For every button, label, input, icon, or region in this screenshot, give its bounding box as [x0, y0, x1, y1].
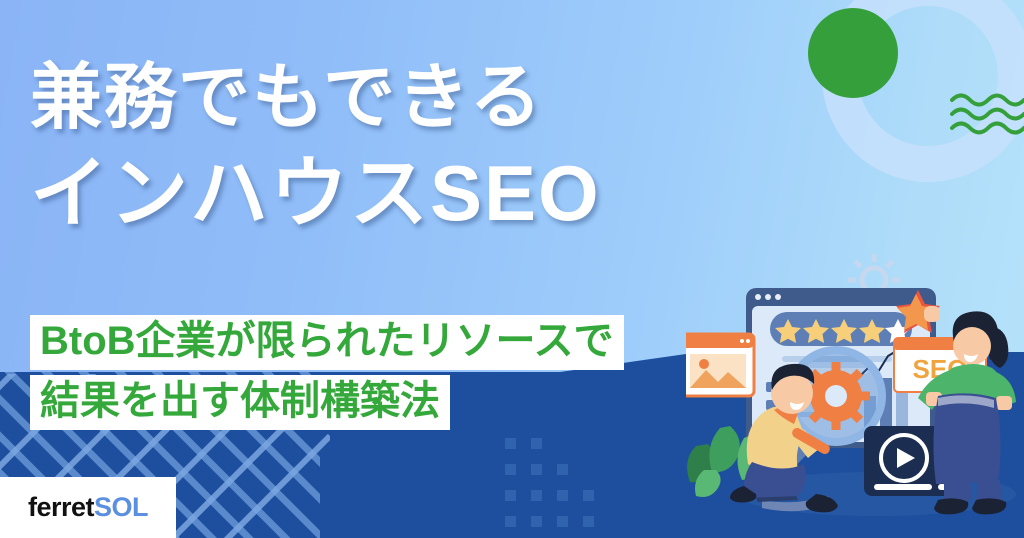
logo-primary-text: ferret [28, 492, 94, 522]
subtitle-line-1: BtoB企業が限られたリソースで [30, 315, 624, 370]
seo-seminar-banner: 兼務でもできる インハウスSEO BtoB企業が限られたリソースで 結果を出す体… [0, 0, 1024, 538]
dot-grid-decoration [505, 412, 715, 538]
image-card [686, 334, 754, 396]
woman-hand [924, 306, 940, 322]
ferret-sol-logo[interactable]: ferretSOL [0, 477, 176, 538]
headline-line-1: 兼務でもできる [30, 62, 601, 134]
star-rating-bar [770, 312, 912, 346]
seo-team-illustration: SEO [686, 250, 1024, 538]
subtitle-band-2: 結果を出す体制構築法 [30, 375, 450, 430]
subtitle-band-1: BtoB企業が限られたリソースで [30, 315, 624, 370]
subtitle-line-2: 結果を出す体制構築法 [30, 375, 450, 430]
headline-line-2: インハウスSEO [30, 154, 601, 232]
headline-block: 兼務でもできる インハウスSEO [30, 62, 601, 232]
logo-secondary-text: SOL [94, 492, 148, 522]
